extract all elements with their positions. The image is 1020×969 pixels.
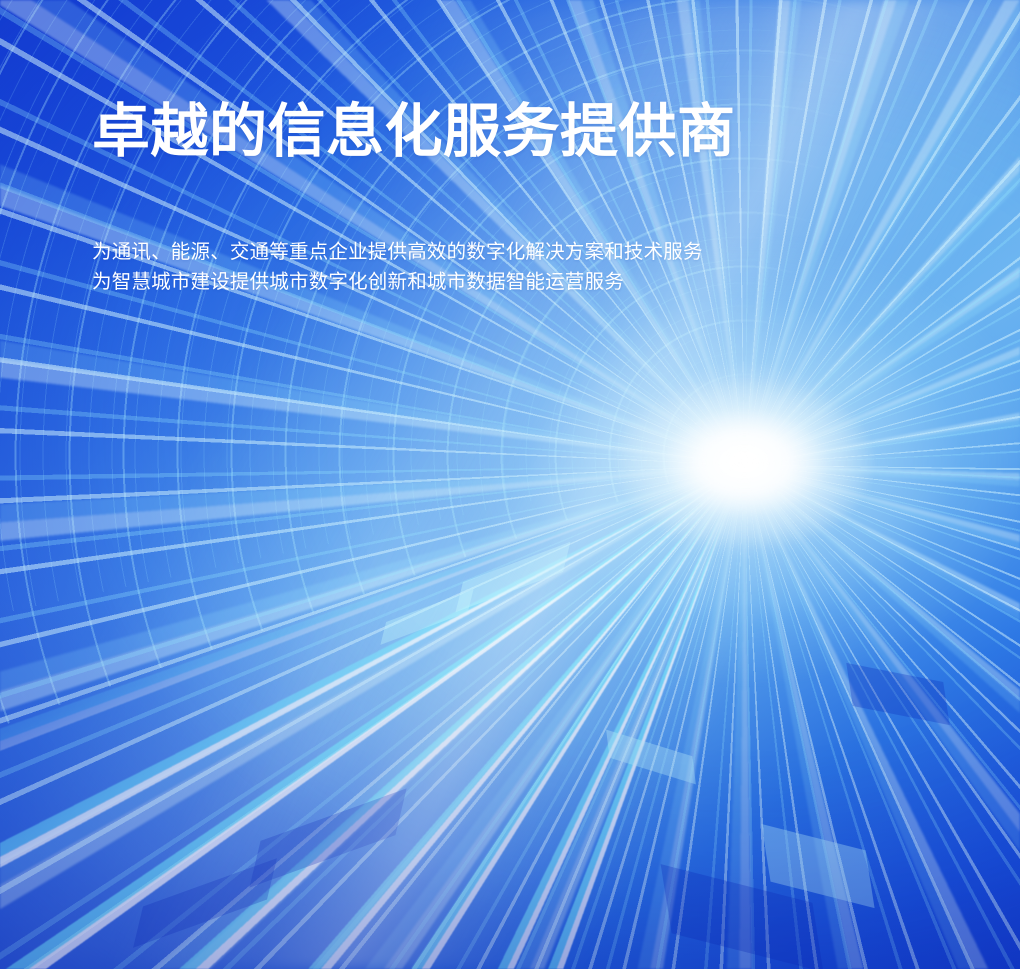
subtitle-line-2: 为智慧城市建设提供城市数字化创新和城市数据智能运营服务: [92, 267, 952, 297]
chevron-facet-1: [456, 542, 571, 612]
banner-content: 卓越的信息化服务提供商 为通讯、能源、交通等重点企业提供高效的数字化解决方案和技…: [92, 100, 952, 297]
banner-subtitle: 为通讯、能源、交通等重点企业提供高效的数字化解决方案和技术服务 为智慧城市建设提…: [92, 237, 952, 297]
chevron-facet-5: [761, 824, 874, 908]
chevron-facet-7: [846, 663, 949, 725]
chevron-facet-4: [133, 858, 277, 948]
hero-banner: 卓越的信息化服务提供商 为通讯、能源、交通等重点企业提供高效的数字化解决方案和技…: [0, 0, 1020, 969]
chevron-facet-2: [380, 589, 473, 645]
chevron-facet-3: [249, 788, 406, 887]
chevron-facet-6: [661, 864, 824, 969]
chevron-facet-8: [606, 730, 696, 785]
page-title: 卓越的信息化服务提供商: [92, 100, 952, 165]
subtitle-line-1: 为通讯、能源、交通等重点企业提供高效的数字化解决方案和技术服务: [92, 237, 952, 267]
